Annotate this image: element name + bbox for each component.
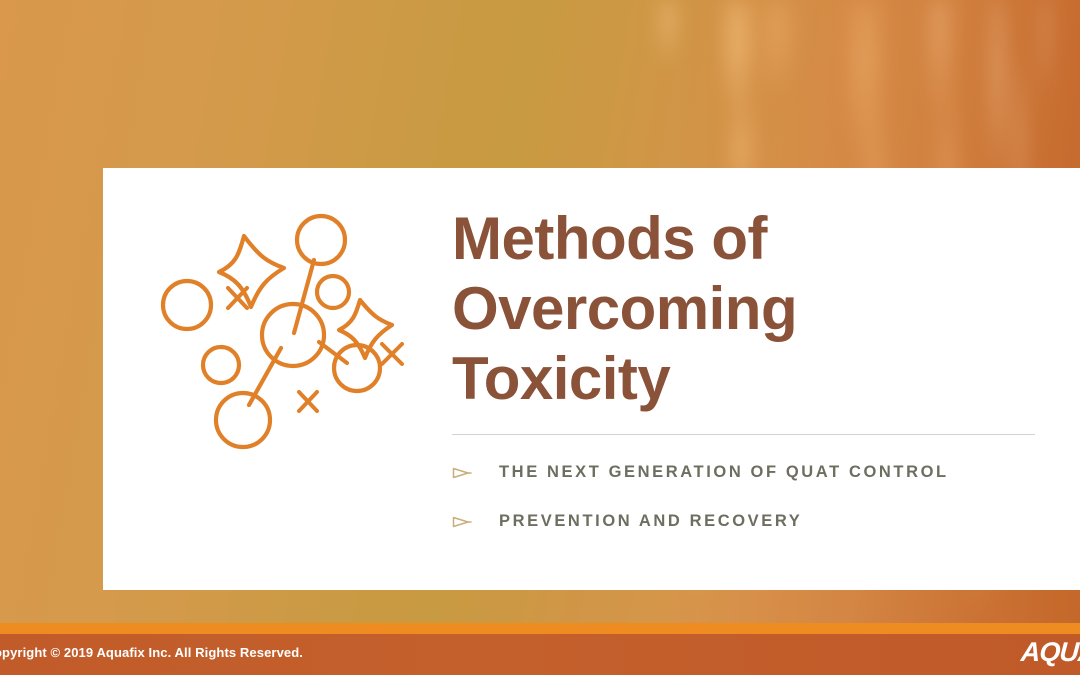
title-divider xyxy=(452,434,1035,435)
presentation-slide: Methods of Overcoming Toxicity THE NEXT … xyxy=(0,0,1080,675)
flag-arrow-icon xyxy=(452,466,472,480)
bullet-item: THE NEXT GENERATION OF QUAT CONTROL xyxy=(452,463,1042,482)
bullet-label: THE NEXT GENERATION OF QUAT CONTROL xyxy=(499,463,949,482)
slide-title: Methods of Overcoming Toxicity xyxy=(452,204,1042,414)
bullet-list: THE NEXT GENERATION OF QUAT CONTROL PREV… xyxy=(452,463,1042,531)
footer-copyright: opyright © 2019 Aquafix Inc. All Rights … xyxy=(0,645,303,660)
bullet-item: PREVENTION AND RECOVERY xyxy=(452,512,1042,531)
slide-text-column: Methods of Overcoming Toxicity THE NEXT … xyxy=(452,204,1042,531)
bullet-label: PREVENTION AND RECOVERY xyxy=(499,512,802,531)
content-card: Methods of Overcoming Toxicity THE NEXT … xyxy=(103,168,1080,590)
molecule-network-icon xyxy=(151,200,431,460)
footer-accent-strip xyxy=(0,623,1080,634)
aquafix-logo: AQUA xyxy=(1019,637,1080,668)
flag-arrow-icon xyxy=(452,515,472,529)
